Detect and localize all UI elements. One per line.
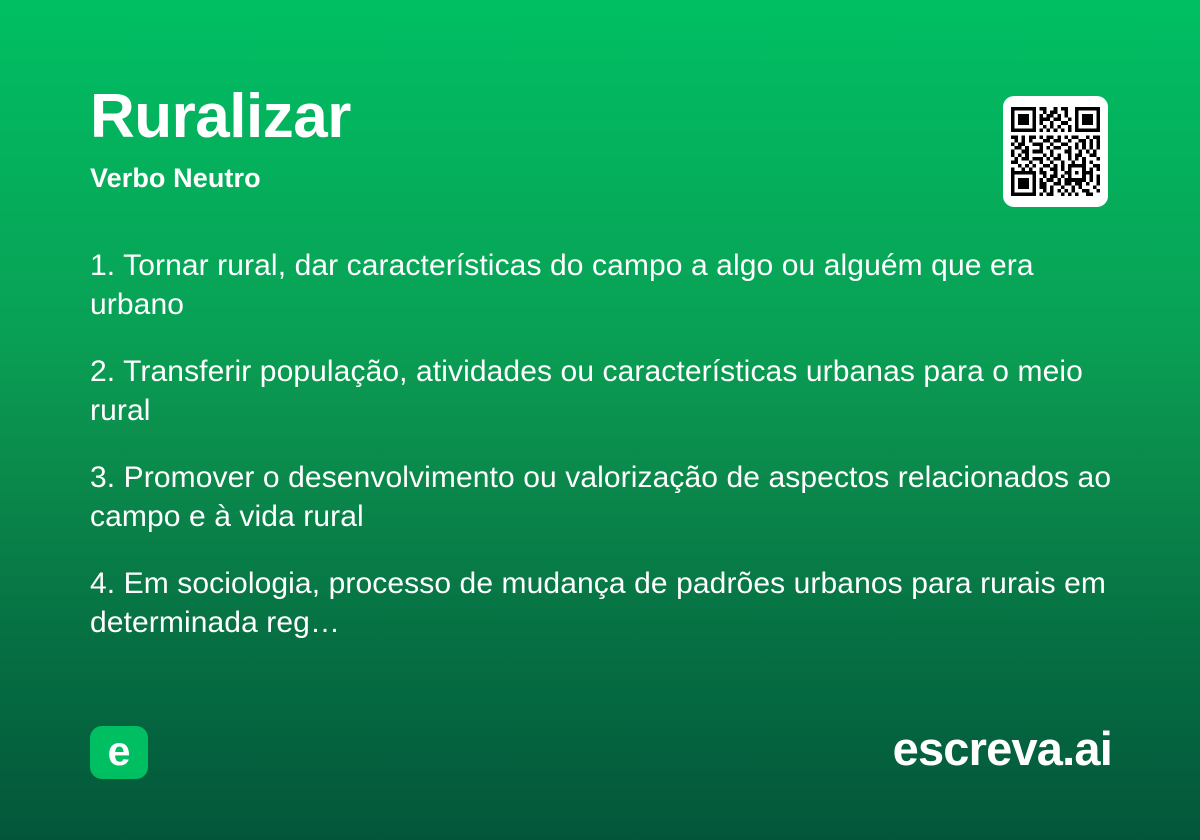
brand-logo-badge: e bbox=[90, 726, 148, 779]
definition-item: 4. Em sociologia, processo de mudança de… bbox=[90, 564, 1112, 642]
definition-item: 2. Transferir população, atividades ou c… bbox=[90, 352, 1112, 430]
qr-code-card[interactable] bbox=[1003, 96, 1108, 207]
card-header: Ruralizar Verbo Neutro bbox=[90, 86, 1110, 194]
definition-list: 1. Tornar rural, dar características do … bbox=[90, 246, 1112, 642]
word-definition-card: Ruralizar Verbo Neutro bbox=[0, 0, 1200, 840]
brand-logo-letter: e bbox=[108, 731, 131, 772]
definition-item: 1. Tornar rural, dar características do … bbox=[90, 246, 1112, 324]
qr-code-icon bbox=[1011, 105, 1100, 198]
word-class-label: Verbo Neutro bbox=[90, 164, 1110, 194]
definition-item: 3. Promover o desenvolvimento ou valoriz… bbox=[90, 458, 1112, 536]
page-title: Ruralizar bbox=[90, 86, 1110, 148]
brand-wordmark: escreva.ai bbox=[893, 722, 1112, 776]
